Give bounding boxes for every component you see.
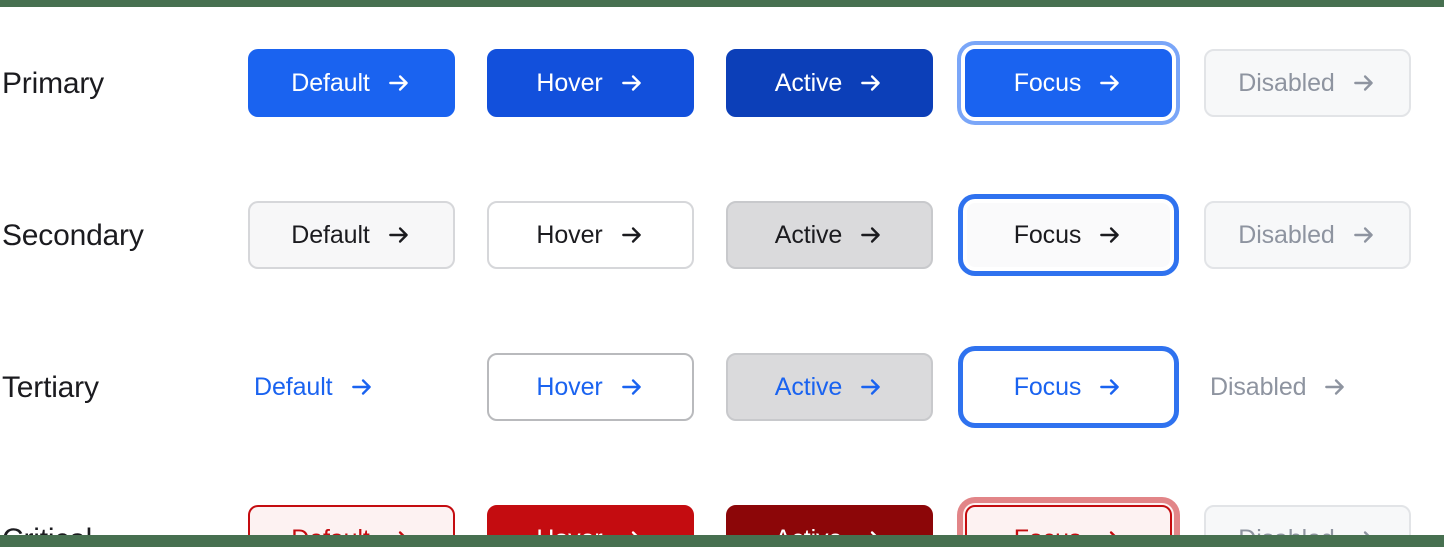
button-tertiary-focus[interactable]: Focus bbox=[965, 353, 1172, 421]
arrow-right-icon bbox=[858, 374, 884, 400]
button-label: Focus bbox=[1014, 71, 1082, 96]
button-row-secondary: SecondaryDefaultHoverActiveFocusDisabled bbox=[0, 159, 1444, 311]
button-label: Default bbox=[254, 375, 333, 400]
cell-primary-hover: Hover bbox=[487, 49, 726, 117]
row-label-primary: Primary bbox=[0, 67, 248, 100]
cell-primary-focus: Focus bbox=[965, 49, 1204, 117]
button-label: Default bbox=[291, 223, 370, 248]
arrow-right-icon bbox=[1351, 70, 1377, 96]
button-secondary-disabled: Disabled bbox=[1204, 201, 1411, 269]
cell-tertiary-disabled: Disabled bbox=[1204, 353, 1443, 421]
button-state-matrix: PrimaryDefaultHoverActiveFocusDisabledSe… bbox=[0, 7, 1444, 547]
button-primary-hover[interactable]: Hover bbox=[487, 49, 694, 117]
cell-primary-disabled: Disabled bbox=[1204, 49, 1443, 117]
button-tertiary-active[interactable]: Active bbox=[726, 353, 933, 421]
button-primary-disabled: Disabled bbox=[1204, 49, 1411, 117]
button-label: Active bbox=[775, 71, 842, 96]
button-secondary-hover[interactable]: Hover bbox=[487, 201, 694, 269]
cell-tertiary-focus: Focus bbox=[965, 353, 1204, 421]
button-secondary-default[interactable]: Default bbox=[248, 201, 455, 269]
cell-secondary-default: Default bbox=[248, 201, 487, 269]
page-edge-strip-bottom bbox=[0, 535, 1444, 547]
arrow-right-icon bbox=[858, 222, 884, 248]
button-tertiary-hover[interactable]: Hover bbox=[487, 353, 694, 421]
button-tertiary-disabled: Disabled bbox=[1204, 353, 1354, 421]
button-label: Disabled bbox=[1238, 71, 1334, 96]
cell-secondary-hover: Hover bbox=[487, 201, 726, 269]
arrow-right-icon bbox=[386, 222, 412, 248]
arrow-right-icon bbox=[619, 374, 645, 400]
button-label: Focus bbox=[1014, 375, 1082, 400]
cell-tertiary-active: Active bbox=[726, 353, 965, 421]
arrow-right-icon bbox=[1351, 222, 1377, 248]
cell-primary-active: Active bbox=[726, 49, 965, 117]
arrow-right-icon bbox=[1097, 70, 1123, 96]
button-label: Default bbox=[291, 71, 370, 96]
button-tertiary-default[interactable]: Default bbox=[248, 353, 381, 421]
button-label: Active bbox=[775, 375, 842, 400]
button-label: Hover bbox=[536, 71, 602, 96]
cell-tertiary-default: Default bbox=[248, 353, 487, 421]
cell-tertiary-hover: Hover bbox=[487, 353, 726, 421]
button-label: Hover bbox=[536, 375, 602, 400]
button-primary-focus[interactable]: Focus bbox=[965, 49, 1172, 117]
arrow-right-icon bbox=[386, 70, 412, 96]
button-primary-active[interactable]: Active bbox=[726, 49, 933, 117]
button-row-tertiary: TertiaryDefaultHoverActiveFocusDisabled bbox=[0, 311, 1444, 463]
arrow-right-icon bbox=[1097, 374, 1123, 400]
row-label-secondary: Secondary bbox=[0, 219, 248, 252]
button-label: Disabled bbox=[1210, 375, 1306, 400]
button-label: Focus bbox=[1014, 223, 1082, 248]
cell-primary-default: Default bbox=[248, 49, 487, 117]
button-label: Hover bbox=[536, 223, 602, 248]
row-label-tertiary: Tertiary bbox=[0, 371, 248, 404]
button-matrix-page: PrimaryDefaultHoverActiveFocusDisabledSe… bbox=[0, 0, 1444, 547]
page-edge-strip-top bbox=[0, 0, 1444, 7]
arrow-right-icon bbox=[858, 70, 884, 96]
cell-secondary-disabled: Disabled bbox=[1204, 201, 1443, 269]
arrow-right-icon bbox=[619, 70, 645, 96]
button-secondary-focus[interactable]: Focus bbox=[965, 201, 1172, 269]
arrow-right-icon bbox=[1097, 222, 1123, 248]
arrow-right-icon bbox=[349, 374, 375, 400]
arrow-right-icon bbox=[1322, 374, 1348, 400]
button-primary-default[interactable]: Default bbox=[248, 49, 455, 117]
button-secondary-active[interactable]: Active bbox=[726, 201, 933, 269]
button-row-primary: PrimaryDefaultHoverActiveFocusDisabled bbox=[0, 7, 1444, 159]
button-label: Disabled bbox=[1238, 223, 1334, 248]
cell-secondary-focus: Focus bbox=[965, 201, 1204, 269]
button-label: Active bbox=[775, 223, 842, 248]
arrow-right-icon bbox=[619, 222, 645, 248]
cell-secondary-active: Active bbox=[726, 201, 965, 269]
